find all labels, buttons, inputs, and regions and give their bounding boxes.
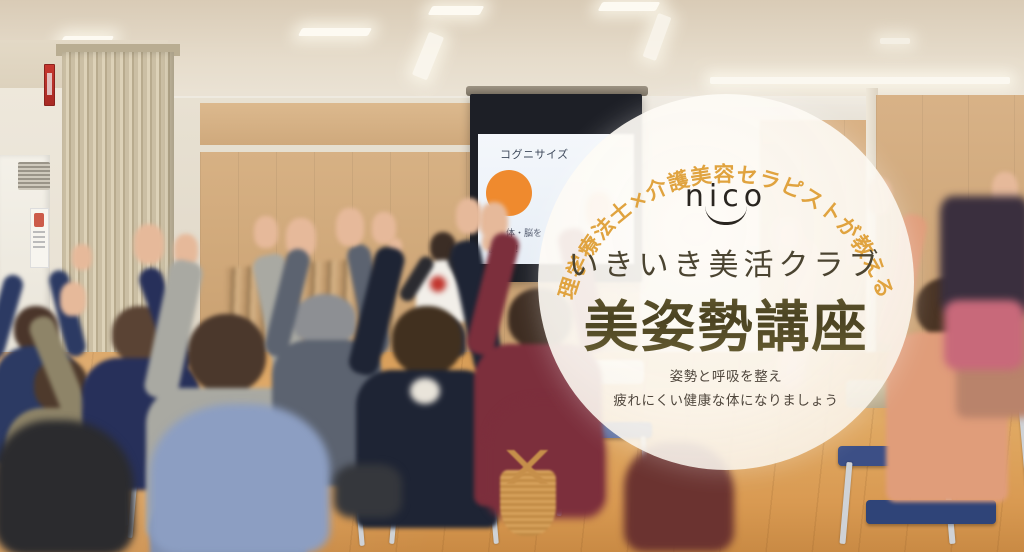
wall-notice	[30, 208, 49, 268]
coat-on-chair	[0, 420, 134, 552]
air-conditioner-grill	[18, 162, 50, 190]
ceiling-light	[428, 6, 485, 15]
basket-handle	[506, 450, 550, 484]
equipment	[940, 196, 1024, 316]
ceiling-light	[880, 38, 910, 44]
brand-name: nico	[685, 179, 767, 214]
ceiling-light	[298, 28, 372, 36]
ceiling-light-bar	[710, 77, 1010, 84]
brand-logo: nico	[538, 182, 914, 225]
coat-on-chair	[150, 404, 330, 552]
club-title: いきいき美活クラブ	[538, 240, 914, 284]
tagline-line-1: 姿勢と呼吸を整え	[538, 366, 914, 390]
course-title: 美姿勢講座	[528, 282, 924, 362]
equipment	[944, 300, 1024, 370]
ceiling-light	[598, 2, 661, 11]
tagline-line-2: 疲れにくい健康な体になりましょう	[538, 390, 914, 414]
tagline: 姿勢と呼吸を整え 疲れにくい健康な体になりましょう	[538, 366, 914, 413]
bag-on-floor	[334, 464, 402, 518]
fire-alarm-icon	[44, 64, 55, 106]
poster-canvas: コグニサイズ 声・体・脳を 使って！	[0, 0, 1024, 552]
